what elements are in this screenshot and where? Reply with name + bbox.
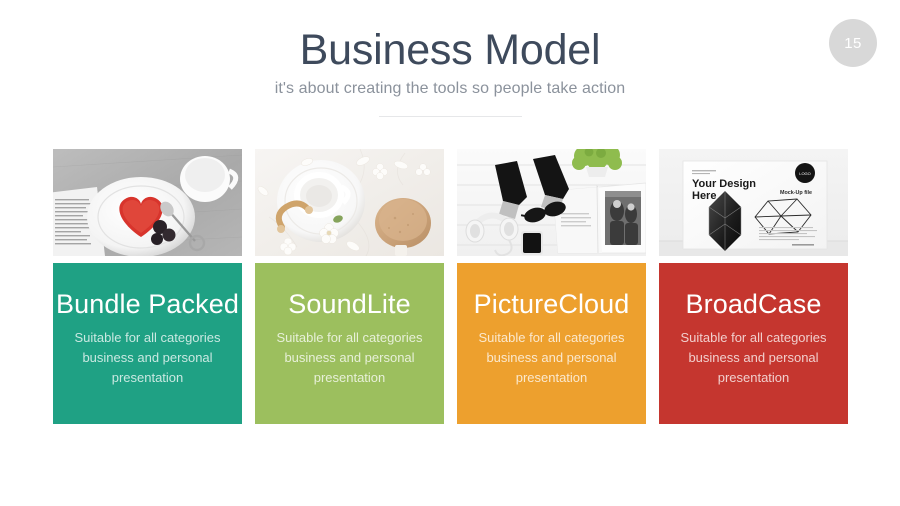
card-description: Suitable for all categories business and… [476,328,628,387]
slide: 15 Business Model it's about creating th… [0,0,900,506]
card-body: PictureCloud Suitable for all categories… [457,263,646,424]
card-body: BroadCase Suitable for all categories bu… [659,263,848,424]
card-title: BroadCase [686,289,822,319]
card-grid: Bundle Packed Suitable for all categorie… [53,149,847,424]
card-title: PictureCloud [474,289,630,319]
photo-teacup-marble-flowers [255,149,444,256]
card-picturecloud[interactable]: PictureCloud Suitable for all categories… [457,149,646,424]
title-divider [379,116,522,117]
card-broadcase[interactable]: Your Design Here LOGO Mock-Up file [659,149,848,424]
card-description: Suitable for all categories business and… [274,328,426,387]
card-title: SoundLite [288,289,411,319]
slide-header: Business Model it's about creating the t… [0,0,900,117]
svg-text:Here: Here [692,190,716,202]
photo-poster-mockup-gems: Your Design Here LOGO Mock-Up file [659,149,848,256]
photo-boots-headphones-magazine [457,149,646,256]
card-body: Bundle Packed Suitable for all categorie… [53,263,242,424]
card-description: Suitable for all categories business and… [678,328,830,387]
page-title: Business Model [0,27,900,73]
svg-text:Mock-Up file: Mock-Up file [780,190,812,196]
card-body: SoundLite Suitable for all categories bu… [255,263,444,424]
card-description: Suitable for all categories business and… [72,328,224,387]
page-subtitle: it's about creating the tools so people … [0,80,900,98]
svg-text:LOGO: LOGO [799,171,811,176]
card-title: Bundle Packed [56,289,239,319]
svg-text:Your Design: Your Design [692,178,756,190]
card-soundlite[interactable]: SoundLite Suitable for all categories bu… [255,149,444,424]
card-bundle-packed[interactable]: Bundle Packed Suitable for all categorie… [53,149,242,424]
photo-heart-dessert-plate-mug [53,149,242,256]
